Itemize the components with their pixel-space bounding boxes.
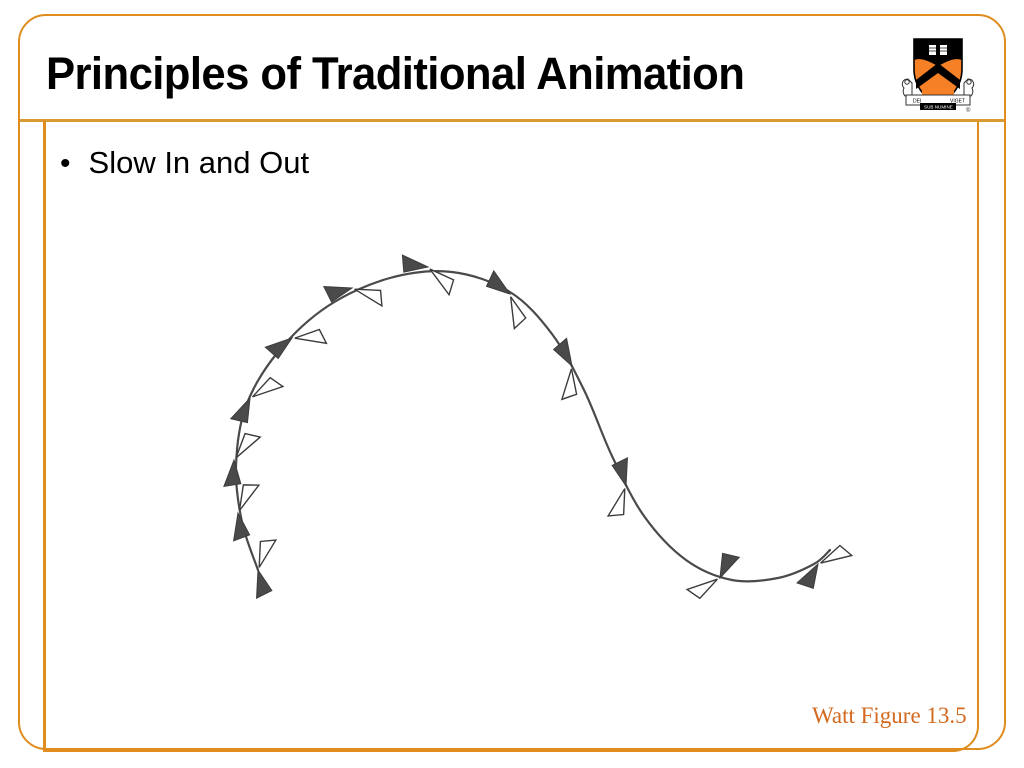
figure-attribution: Watt Figure 13.5 — [812, 703, 967, 729]
princeton-shield-icon: DEI VIGET SUB NUMINE ® — [900, 33, 976, 115]
svg-text:SUB NUMINE: SUB NUMINE — [924, 105, 953, 110]
bullet-item-label: Slow In and Out — [89, 145, 310, 181]
marker-hollow-triangle — [253, 374, 285, 405]
motion-sample-marker — [592, 458, 645, 520]
marker-hollow-triangle — [355, 281, 386, 313]
slide-canvas: Principles of Traditional Animation — [0, 0, 1024, 768]
marker-filled-triangle — [797, 559, 823, 590]
bullet-marker-icon: • — [60, 149, 71, 179]
motion-path-figure — [180, 230, 880, 630]
marker-hollow-triangle — [601, 489, 633, 520]
marker-hollow-triangle — [821, 541, 854, 573]
motion-sample-marker — [221, 481, 270, 541]
marker-filled-triangle — [265, 330, 296, 360]
motion-sample-marker — [324, 269, 386, 322]
marker-hollow-triangle — [429, 269, 454, 295]
marker-filled-triangle — [552, 338, 581, 369]
marker-filled-triangle — [248, 568, 273, 598]
marker-filled-triangle — [402, 255, 429, 273]
marker-filled-triangle — [231, 394, 256, 424]
marker-hollow-triangle — [497, 297, 531, 331]
motion-sample-marker — [401, 255, 454, 295]
bullet-list-item: • Slow In and Out — [60, 145, 309, 181]
motion-path-markers — [221, 255, 853, 606]
motion-sample-marker — [231, 370, 284, 432]
marker-hollow-triangle — [551, 369, 585, 403]
marker-filled-triangle — [485, 271, 516, 299]
marker-filled-triangle — [223, 460, 241, 487]
motion-path-curve — [236, 271, 830, 581]
motion-sample-marker — [222, 433, 262, 486]
motion-sample-marker — [239, 536, 292, 598]
motion-sample-marker — [265, 312, 329, 375]
page-title: Principles of Traditional Animation — [46, 48, 744, 100]
svg-text:®: ® — [966, 107, 971, 114]
